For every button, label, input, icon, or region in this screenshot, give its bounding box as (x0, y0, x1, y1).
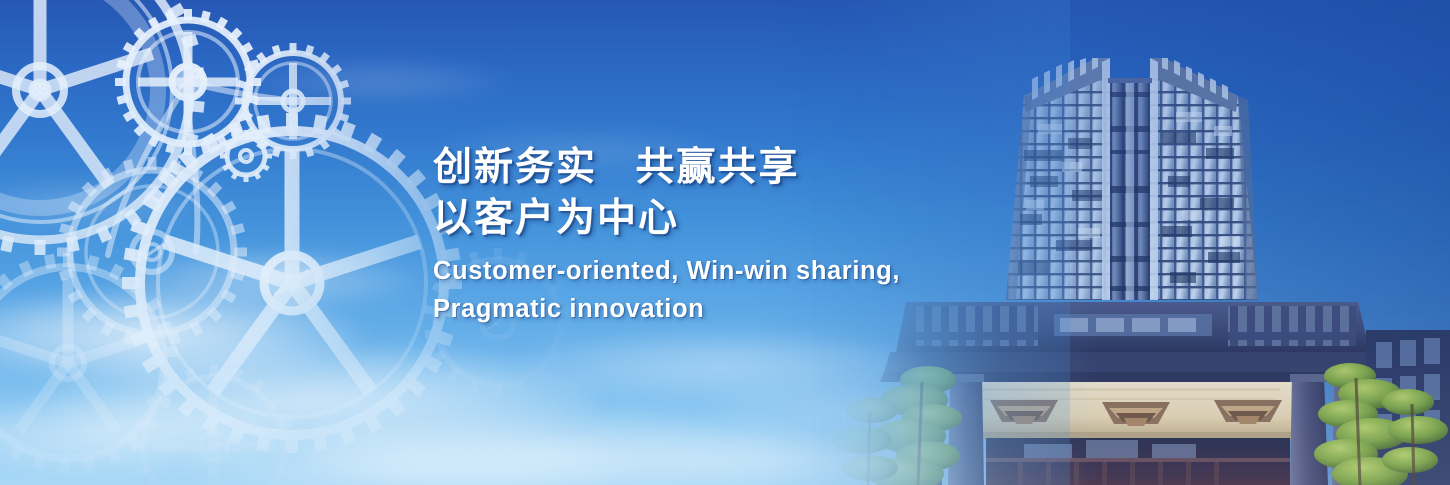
subtitle-line-2: Pragmatic innovation (433, 290, 953, 328)
headline-line-1: 创新务实 共赢共享 (433, 142, 953, 193)
headline-line-2: 以客户为中心 (433, 193, 953, 244)
hero-banner: 创新务实 共赢共享 以客户为中心 Customer-oriented, Win-… (0, 0, 1450, 485)
subtitle-line-1: Customer-oriented, Win-win sharing, (433, 252, 953, 290)
banner-copy: 创新务实 共赢共享 以客户为中心 Customer-oriented, Win-… (433, 142, 953, 328)
